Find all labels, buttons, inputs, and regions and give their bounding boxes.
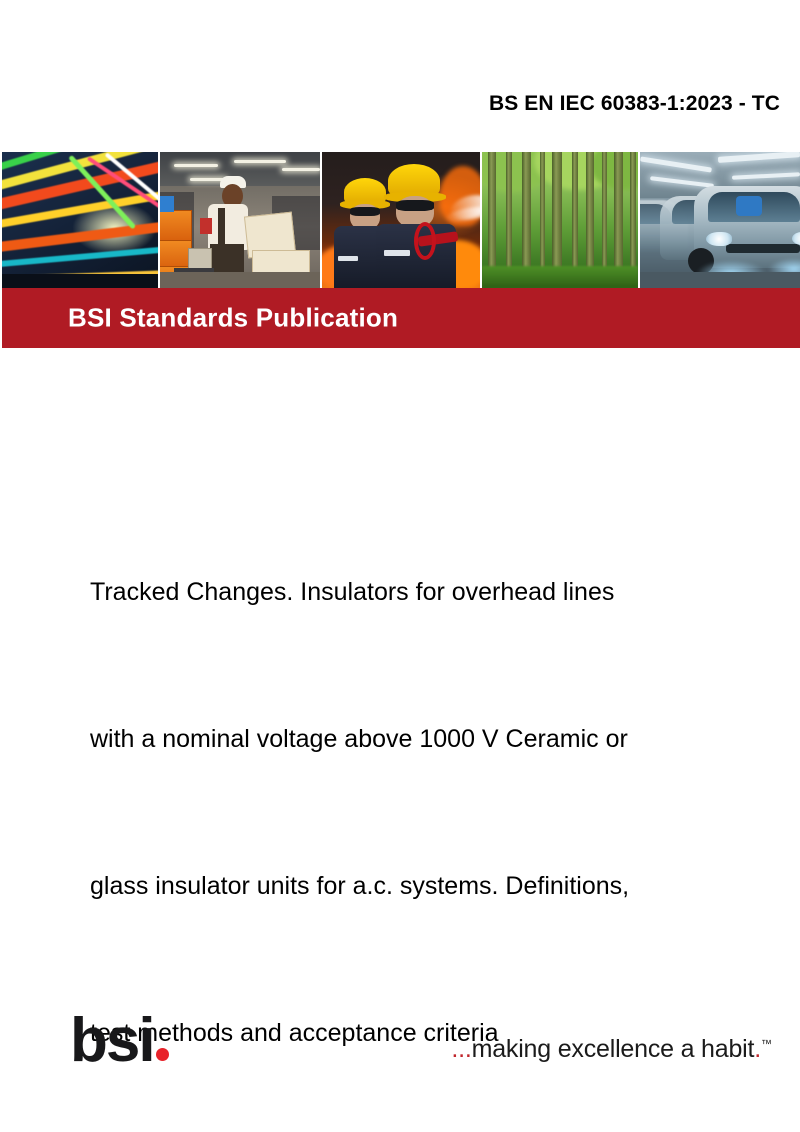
bsi-logo: bsi — [70, 1006, 200, 1076]
orange-crate — [160, 210, 192, 242]
firefighter-goggles — [350, 207, 380, 216]
hose-valve-wheel — [414, 222, 436, 260]
tagline-text: making excellence a habit — [472, 1035, 755, 1063]
document-reference-header: BS EN IEC 60383-1:2023 - TC — [0, 92, 780, 116]
warehouse-floor — [160, 272, 320, 288]
tree-trunk — [506, 152, 512, 272]
worker-strap — [218, 208, 225, 246]
cover-image-rail-light-trails — [2, 152, 160, 288]
ceiling-light — [282, 168, 320, 171]
title-line-1: Tracked Changes. Insulators for overhead… — [90, 568, 800, 617]
bsi-logo-wordmark: bsi — [70, 1006, 154, 1075]
ceiling-light — [174, 164, 218, 167]
tagline-leading-dots: ... — [451, 1035, 471, 1063]
bsi-logo-dot — [156, 1048, 169, 1061]
ceiling-light — [234, 160, 286, 163]
cover-image-strip — [2, 152, 800, 288]
title-line-2: with a nominal voltage above 1000 V Cera… — [90, 715, 800, 764]
car-grille — [726, 244, 800, 253]
hi-vis-stripe — [338, 256, 358, 261]
bsi-standards-banner: BSI Standards Publication — [2, 288, 800, 348]
hi-vis-stripe — [384, 250, 410, 256]
tree-trunk — [586, 152, 594, 272]
forest-floor — [482, 266, 638, 288]
cover-image-warehouse-worker — [160, 152, 322, 288]
tree-trunk — [488, 152, 496, 272]
cover-image-forest — [482, 152, 640, 288]
bsi-tagline: ...making excellence a habit.™ — [451, 1035, 772, 1064]
background-worker — [200, 218, 212, 234]
firefighter-goggles — [396, 200, 434, 211]
car-headlight — [706, 232, 732, 246]
tagline-period: . — [754, 1035, 761, 1063]
rail-foreground-dark — [2, 274, 158, 288]
title-line-3: glass insulator units for a.c. systems. … — [90, 862, 800, 911]
tree-trunk — [540, 152, 545, 272]
trademark-symbol: ™ — [761, 1039, 772, 1051]
tree-trunk — [602, 152, 607, 272]
tree-trunk — [630, 152, 636, 272]
blue-bin — [160, 196, 174, 212]
tree-trunk — [552, 152, 562, 272]
banner-label: BSI Standards Publication — [68, 303, 398, 334]
car-interior-seat — [736, 196, 762, 216]
cover-image-car-assembly — [640, 152, 800, 288]
tree-trunk — [614, 152, 623, 272]
tree-trunk — [522, 152, 531, 272]
factory-floor — [640, 272, 800, 288]
cover-image-firefighters — [322, 152, 482, 288]
tree-trunk — [572, 152, 578, 272]
